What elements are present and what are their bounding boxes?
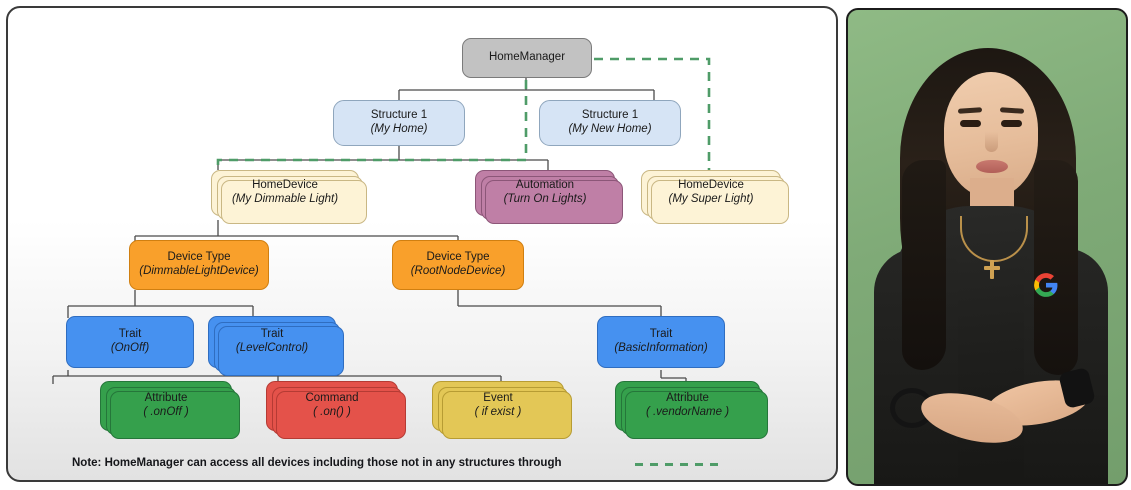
node-label-secondary: (My Dimmable Light) (232, 193, 338, 207)
node-label-secondary: ( .vendorName ) (646, 406, 729, 420)
presenter-mouth (976, 160, 1008, 173)
slide-panel: HomeManager Structure 1 (My Home) Struct… (6, 6, 838, 482)
node-label-primary: HomeManager (489, 51, 565, 65)
node-label-primary: Automation (516, 179, 574, 193)
node-label-secondary: (My Super Light) (668, 193, 753, 207)
node-label-primary: Attribute (145, 392, 188, 406)
node-label-secondary: ( .on() ) (313, 406, 351, 420)
node-label-secondary: (OnOff) (111, 342, 149, 356)
node-structure-my-new-home[interactable]: Structure 1 (My New Home) (539, 100, 681, 146)
node-label-secondary: (RootNodeDevice) (411, 265, 506, 279)
node-label-primary: Trait (119, 328, 142, 342)
node-trait-levelcontrol[interactable]: Trait (LevelControl) (208, 316, 336, 368)
node-automation-turn-on-lights[interactable]: Automation (Turn On Lights) (475, 170, 615, 216)
node-label-secondary: (LevelControl) (236, 342, 308, 356)
node-label-primary: HomeDevice (252, 179, 318, 193)
node-label-primary: Device Type (426, 251, 489, 265)
footer-note: Note: HomeManager can access all devices… (72, 457, 562, 469)
node-homedevice-my-dimmable-light[interactable]: HomeDevice (My Dimmable Light) (211, 170, 359, 216)
node-homedevice-my-super-light[interactable]: HomeDevice (My Super Light) (641, 170, 781, 216)
node-devicetype-dimmablelightdevice[interactable]: Device Type (DimmableLightDevice) (129, 240, 269, 290)
node-trait-onoff[interactable]: Trait (OnOff) (66, 316, 194, 368)
node-label-primary: Trait (261, 328, 284, 342)
node-attribute-onoff[interactable]: Attribute ( .onOff ) (100, 381, 232, 431)
presenter-cross-pendant-horizontal (984, 266, 1000, 270)
node-label-secondary: ( if exist ) (475, 406, 522, 420)
node-devicetype-rootnodedevice[interactable]: Device Type (RootNodeDevice) (392, 240, 524, 290)
node-label-secondary: (DimmableLightDevice) (139, 265, 259, 279)
presenter-hair-strand-right (1034, 160, 1078, 375)
screen: HomeManager Structure 1 (My Home) Struct… (0, 0, 1131, 490)
presenter-eye-right (1001, 120, 1022, 127)
node-label-secondary: (My Home) (371, 123, 428, 137)
node-attribute-vendorname[interactable]: Attribute ( .vendorName ) (615, 381, 760, 431)
node-structure-my-home[interactable]: Structure 1 (My Home) (333, 100, 465, 146)
node-event-if-exist[interactable]: Event ( if exist ) (432, 381, 564, 431)
node-label-primary: Attribute (666, 392, 709, 406)
node-label-primary: Trait (650, 328, 673, 342)
presenter-video[interactable] (846, 8, 1128, 486)
google-g-icon (1033, 272, 1059, 298)
node-label-primary: Structure 1 (371, 109, 427, 123)
node-label-secondary: (BasicInformation) (614, 342, 707, 356)
presenter-eye-left (960, 120, 981, 127)
node-home-manager[interactable]: HomeManager (462, 38, 592, 78)
node-label-secondary: ( .onOff ) (143, 406, 188, 420)
node-label-primary: Event (483, 392, 512, 406)
node-label-secondary: (Turn On Lights) (504, 193, 587, 207)
node-label-primary: Command (305, 392, 358, 406)
node-label-primary: Device Type (167, 251, 230, 265)
node-label-primary: HomeDevice (678, 179, 744, 193)
presenter-hair-strand-left (902, 160, 946, 370)
node-trait-basicinformation[interactable]: Trait (BasicInformation) (597, 316, 725, 368)
footer-legend-dashed-line (635, 463, 721, 466)
node-label-secondary: (My New Home) (568, 123, 651, 137)
node-command-on[interactable]: Command ( .on() ) (266, 381, 398, 431)
presenter-nose (985, 132, 998, 152)
node-label-primary: Structure 1 (582, 109, 638, 123)
